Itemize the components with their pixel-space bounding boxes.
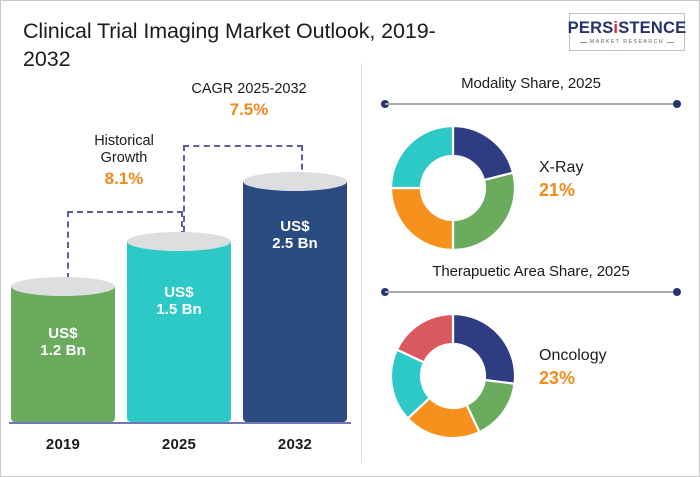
modality-share-rule xyxy=(381,100,681,108)
bar-2025-category-label: 2025 xyxy=(127,436,231,453)
bar-2025[interactable]: US$1.5 Bn xyxy=(127,232,231,422)
bar-2032[interactable]: US$2.5 Bn xyxy=(243,172,347,422)
therapeutic-area-share-panel: Therapuetic Area Share, 2025 xyxy=(373,263,689,452)
callout-historical-growth-label: Historical Growth xyxy=(59,133,189,167)
logo-rule-left-icon xyxy=(580,42,587,43)
modality-share-donut-row: X-Ray 21% xyxy=(373,114,689,264)
bar-2019-category-label: 2019 xyxy=(11,436,115,453)
bar-2019-value-label: US$1.2 Bn xyxy=(11,325,115,360)
bar-2019[interactable]: US$1.2 Bn xyxy=(11,277,115,422)
callout-cagr: CAGR 2025-2032 7.5% xyxy=(169,81,329,120)
modality-slice-3 xyxy=(391,188,453,250)
bar-2032-value-label: US$2.5 Bn xyxy=(243,218,347,253)
rule-line xyxy=(385,291,677,293)
logo-word-pre: PERS xyxy=(568,19,614,37)
logo-subtitle: MARKET RESEARCH xyxy=(590,39,664,45)
modality-legend-label: X-Ray xyxy=(539,158,583,177)
therapeutic-slice-oncology xyxy=(453,314,515,384)
bar-2025-cap xyxy=(127,232,231,251)
callout-historical-growth: Historical Growth 8.1% xyxy=(59,133,189,189)
chart-baseline xyxy=(9,422,351,424)
therapeutic-area-share-title: Therapuetic Area Share, 2025 xyxy=(373,263,689,280)
logo-word-post: STENCE xyxy=(618,19,686,37)
page-title: Clinical Trial Imaging Market Outlook, 2… xyxy=(23,17,443,74)
modality-slice-2 xyxy=(453,173,515,250)
rule-dot-right-icon xyxy=(673,100,681,108)
bar-2025-value-label: US$1.5 Bn xyxy=(127,284,231,319)
rule-dot-right-icon xyxy=(673,288,681,296)
panel-divider xyxy=(361,63,362,463)
callout-historical-growth-value: 8.1% xyxy=(59,169,189,189)
logo-subtitle-row: MARKET RESEARCH xyxy=(580,39,674,45)
bar-2025-body xyxy=(127,241,231,422)
therapeutic-area-donut-chart[interactable] xyxy=(379,302,527,450)
bar-2032-cap xyxy=(243,172,347,191)
logo-rule-right-icon xyxy=(667,42,674,43)
infographic-root: Clinical Trial Imaging Market Outlook, 2… xyxy=(0,0,700,477)
therapeutic-legend-label: Oncology xyxy=(539,346,607,365)
therapeutic-area-legend: Oncology 23% xyxy=(539,346,607,390)
modality-slice-x-ray xyxy=(453,126,513,180)
modality-share-donut-chart[interactable] xyxy=(379,114,527,262)
therapeutic-area-share-rule xyxy=(381,288,681,296)
therapeutic-legend-value: 23% xyxy=(539,368,607,390)
bar-2032-category-label: 2032 xyxy=(243,436,347,453)
modality-legend-value: 21% xyxy=(539,180,583,202)
modality-share-title: Modality Share, 2025 xyxy=(373,75,689,92)
modality-slice-4 xyxy=(391,126,453,188)
rule-line xyxy=(385,103,677,105)
logo-wordmark: PERSiSTENCE xyxy=(568,20,687,37)
callout-cagr-label: CAGR 2025-2032 xyxy=(169,81,329,98)
callout-cagr-value: 7.5% xyxy=(169,100,329,120)
persistence-market-research-logo: PERSiSTENCE MARKET RESEARCH xyxy=(569,13,685,51)
market-size-bar-chart: CAGR 2025-2032 7.5% Historical Growth 8.… xyxy=(1,71,359,471)
therapeutic-area-donut-row: Oncology 23% xyxy=(373,302,689,452)
modality-share-panel: Modality Share, 2025 X-Ray xyxy=(373,75,689,264)
modality-share-legend: X-Ray 21% xyxy=(539,158,583,202)
bar-2019-cap xyxy=(11,277,115,296)
